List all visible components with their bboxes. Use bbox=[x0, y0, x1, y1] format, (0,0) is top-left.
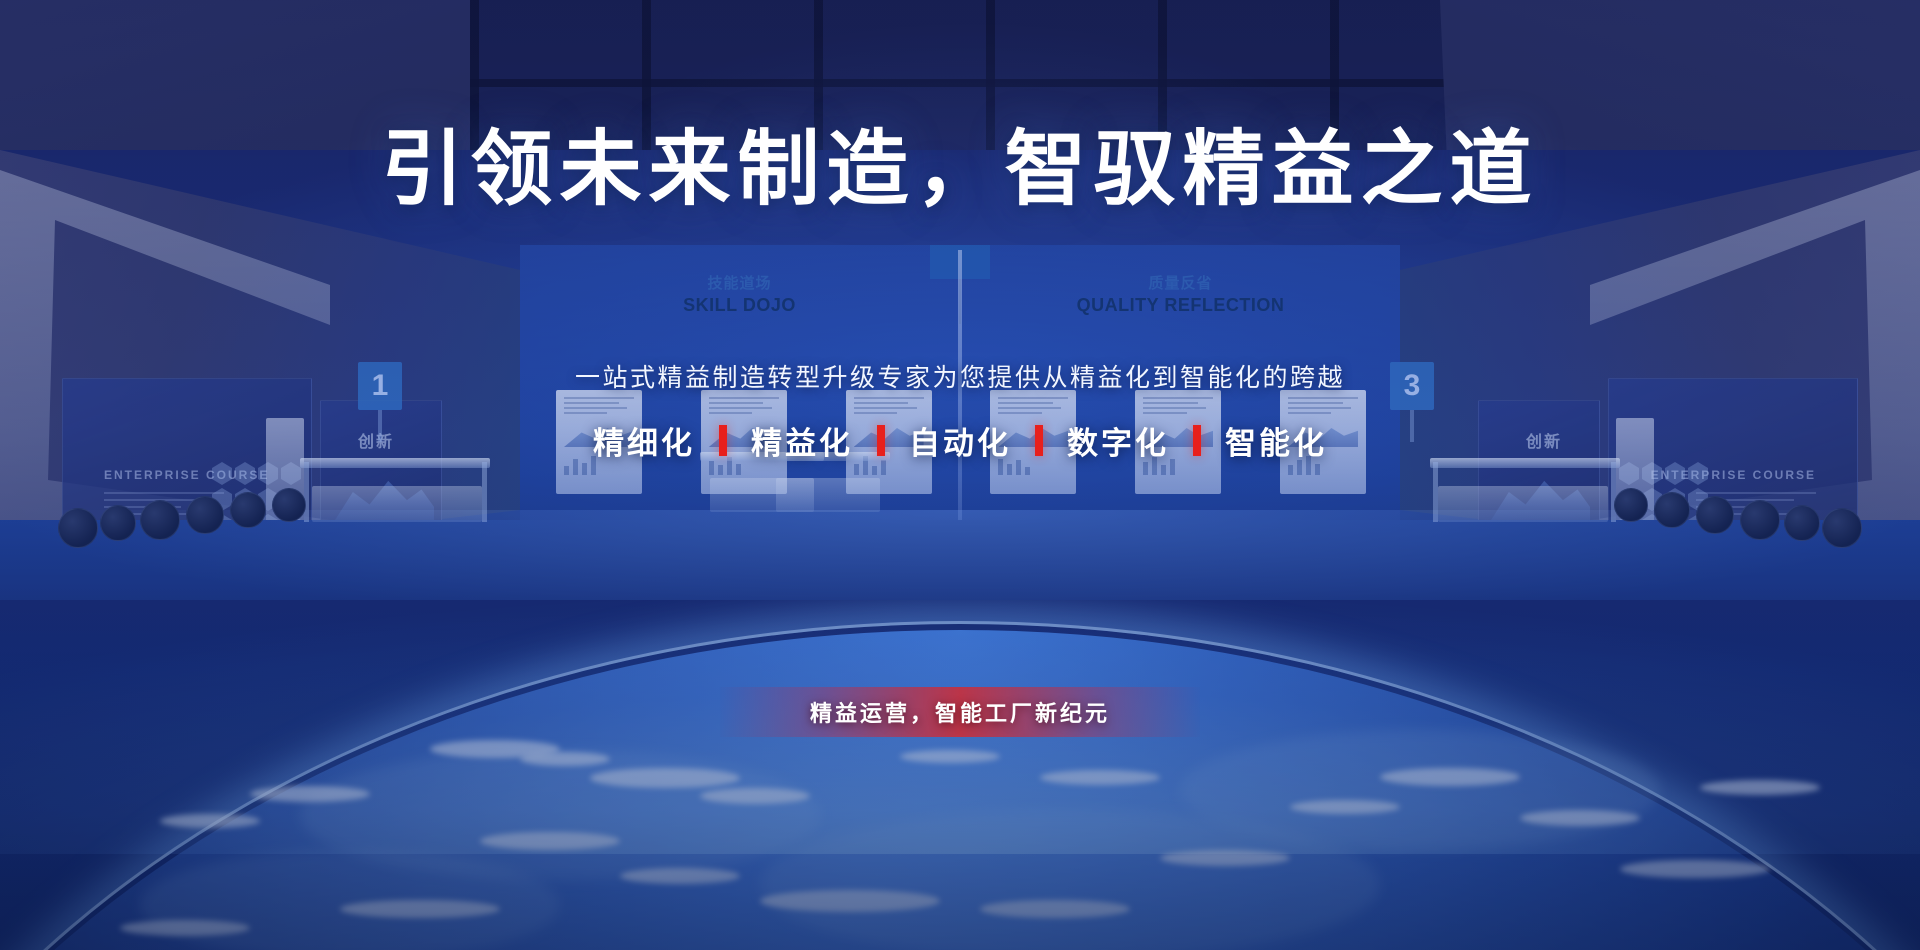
workbench-leg bbox=[1433, 462, 1438, 522]
earth-section bbox=[0, 600, 1920, 950]
floor-drum bbox=[272, 488, 306, 522]
keyword-separator bbox=[719, 425, 727, 456]
floor-drum bbox=[1784, 505, 1820, 541]
workbench bbox=[1438, 486, 1608, 522]
banner-stage: ENTERPRISE COURSE 创新 ENTERPRISE COURSE 创… bbox=[0, 0, 1920, 950]
status-badge: 精益运营，智能工厂新纪元 bbox=[720, 687, 1200, 737]
floor-drum bbox=[58, 508, 98, 548]
signage-skill-dojo: 技能道场 SKILL DOJO bbox=[520, 275, 959, 316]
floor-drum bbox=[1696, 496, 1734, 534]
keyword-item: 精益化 bbox=[731, 418, 873, 463]
status-badge-label: 精益运营，智能工厂新纪元 bbox=[810, 696, 1110, 728]
floor-drum bbox=[1822, 508, 1862, 548]
workbench bbox=[312, 486, 482, 522]
signage-en-label: SKILL DOJO bbox=[520, 294, 959, 317]
floor-drum bbox=[1654, 492, 1690, 528]
keyword-item: 数字化 bbox=[1047, 418, 1189, 463]
signage-quality-reflection: 质量反省 QUALITY REFLECTION bbox=[961, 275, 1400, 316]
floor-drum bbox=[230, 492, 266, 528]
floor-drum bbox=[1614, 488, 1648, 522]
earth-shading bbox=[0, 600, 1920, 950]
keyword-separator bbox=[1193, 425, 1201, 456]
workbench-leg bbox=[482, 462, 487, 522]
workbench-leg bbox=[304, 462, 309, 522]
keyword-item: 智能化 bbox=[1205, 418, 1347, 463]
keyword-list: 精细化 精益化 自动化 数字化 智能化 bbox=[0, 418, 1920, 463]
keyword-separator bbox=[1035, 425, 1043, 456]
keyword-item: 自动化 bbox=[889, 418, 1031, 463]
floor-drum bbox=[140, 500, 180, 540]
workbench bbox=[776, 478, 880, 512]
signage-cn-label: 技能道场 bbox=[520, 275, 959, 294]
floor-drum bbox=[186, 496, 224, 534]
floor-drum bbox=[1740, 500, 1780, 540]
page-subtitle: 一站式精益制造转型升级专家为您提供从精益化到智能化的跨越 bbox=[0, 358, 1920, 394]
keyword-separator bbox=[877, 425, 885, 456]
signage-cn-label: 质量反省 bbox=[961, 275, 1400, 294]
keyword-item: 精细化 bbox=[573, 418, 715, 463]
page-title: 引领未来制造，智驭精益之道 bbox=[0, 129, 1920, 211]
floor-drum bbox=[100, 505, 136, 541]
signage-en-label: QUALITY REFLECTION bbox=[961, 294, 1400, 317]
